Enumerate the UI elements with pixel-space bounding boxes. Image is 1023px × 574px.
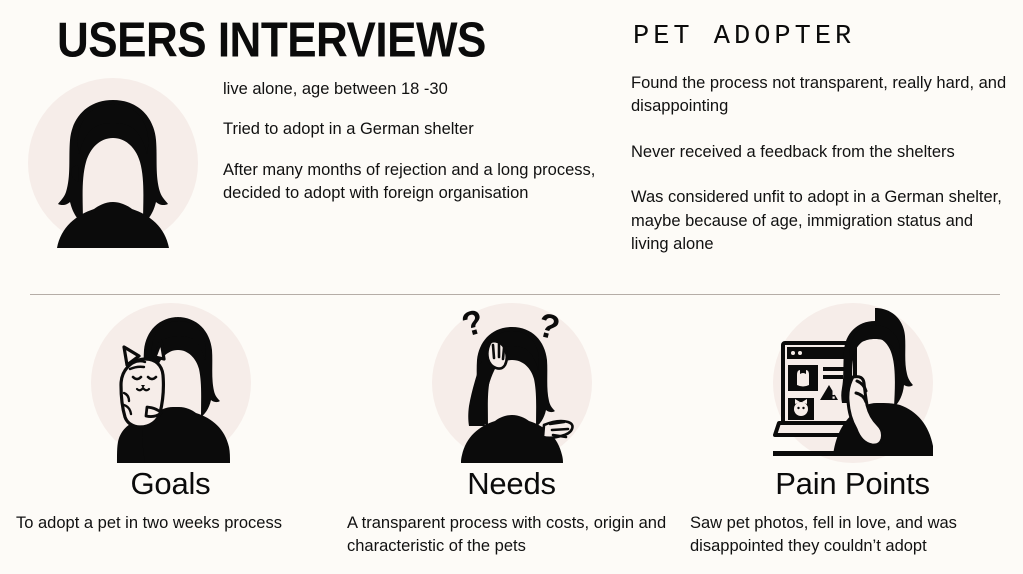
card-goals: Goals To adopt a pet in two weeks proces… — [0, 303, 341, 574]
card-heading: Pain Points — [682, 466, 1023, 502]
card-body: Saw pet photos, fell in love, and was di… — [690, 512, 1020, 559]
confused-woman-question-marks-icon: ? ? — [432, 303, 592, 463]
card-needs: ? ? — [341, 303, 682, 574]
card-body: To adopt a pet in two weeks process — [16, 512, 316, 535]
persona-notes: Found the process not transparent, reall… — [631, 72, 1011, 279]
woman-at-laptop-pet-listings-icon — [773, 303, 933, 463]
card-pain-points: Pain Points Saw pet photos, fell in love… — [682, 303, 1023, 574]
persona-note: Never received a feedback from the shelt… — [631, 141, 1011, 164]
profile-facts: live alone, age between 18 -30 Tried to … — [223, 78, 613, 223]
persona-title: PET ADOPTER — [633, 22, 855, 52]
woman-portrait-icon — [28, 78, 198, 248]
profile-fact: Tried to adopt in a German shelter — [223, 118, 613, 141]
persona-note: Was considered unfit to adopt in a Germa… — [631, 186, 1011, 256]
section-divider — [30, 294, 1000, 295]
page-title: USERS INTERVIEWS — [57, 16, 486, 65]
profile-fact: live alone, age between 18 -30 — [223, 78, 613, 101]
profile-fact: After many months of rejection and a lon… — [223, 159, 613, 206]
persona-cards: Goals To adopt a pet in two weeks proces… — [0, 303, 1023, 574]
persona-note: Found the process not transparent, reall… — [631, 72, 1011, 119]
card-heading: Goals — [0, 466, 341, 502]
card-body: A transparent process with costs, origin… — [347, 512, 683, 559]
card-heading: Needs — [341, 466, 682, 502]
woman-holding-cat-icon — [91, 303, 251, 463]
persona-board: USERS INTERVIEWS PET ADOPTER live alone,… — [0, 0, 1023, 574]
